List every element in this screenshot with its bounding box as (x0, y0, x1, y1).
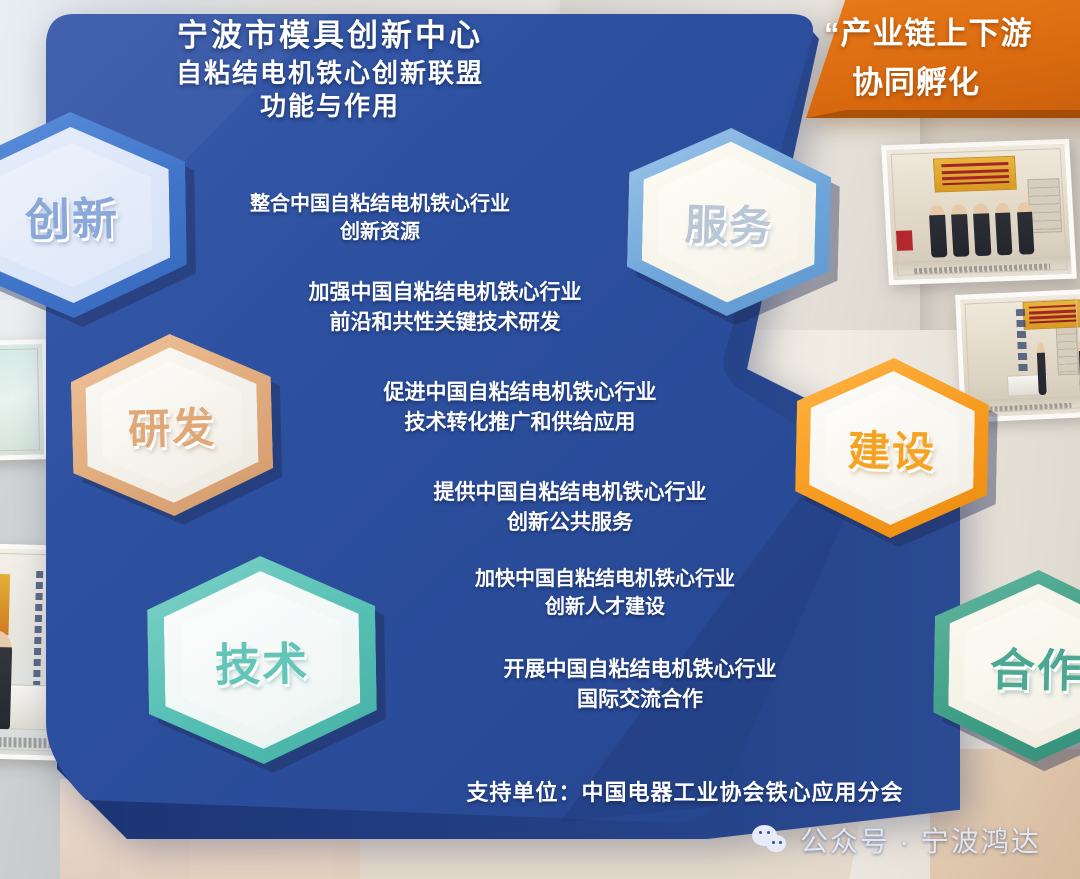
orange-banner: “产业链上下游 协同孵化 (806, 0, 1080, 118)
orange-banner-line-2: 协同孵化 (824, 57, 1080, 102)
hex-badge-rd: 研发 (70, 331, 275, 518)
hex-badge-label: 合作 (932, 568, 1080, 764)
orange-banner-line-1: “产业链上下游 (824, 8, 1080, 53)
hex-badge-label: 技术 (146, 554, 378, 766)
orange-banner-text: “产业链上下游 协同孵化 (824, 8, 1080, 102)
photo-red-banner (1023, 299, 1080, 330)
hex-badge-label: 创新 (0, 110, 188, 320)
watermark-text: 公众号 · 宁波鸿达 (800, 820, 1041, 860)
wechat-watermark: 公众号 · 宁波鸿达 (752, 820, 1041, 860)
hex-badge-service: 服务 (626, 126, 833, 319)
hex-badge-innovation: 创新 (0, 110, 188, 320)
hex-badge-label: 服务 (626, 126, 833, 319)
wechat-icon (752, 825, 790, 855)
hex-badge-label: 建设 (794, 356, 990, 540)
exhibition-board-photo: 宁波市模具创新中心 自粘结电机铁心创新联盟 功能与作用 整合中国自粘结电机铁心行… (0, 0, 1080, 879)
hex-badge-label: 研发 (70, 331, 275, 518)
hex-badge-build: 建设 (794, 356, 990, 540)
photo-people-row (1037, 341, 1080, 395)
hex-badge-tech: 技术 (146, 554, 378, 766)
hex-badge-coop: 合作 (932, 568, 1080, 764)
